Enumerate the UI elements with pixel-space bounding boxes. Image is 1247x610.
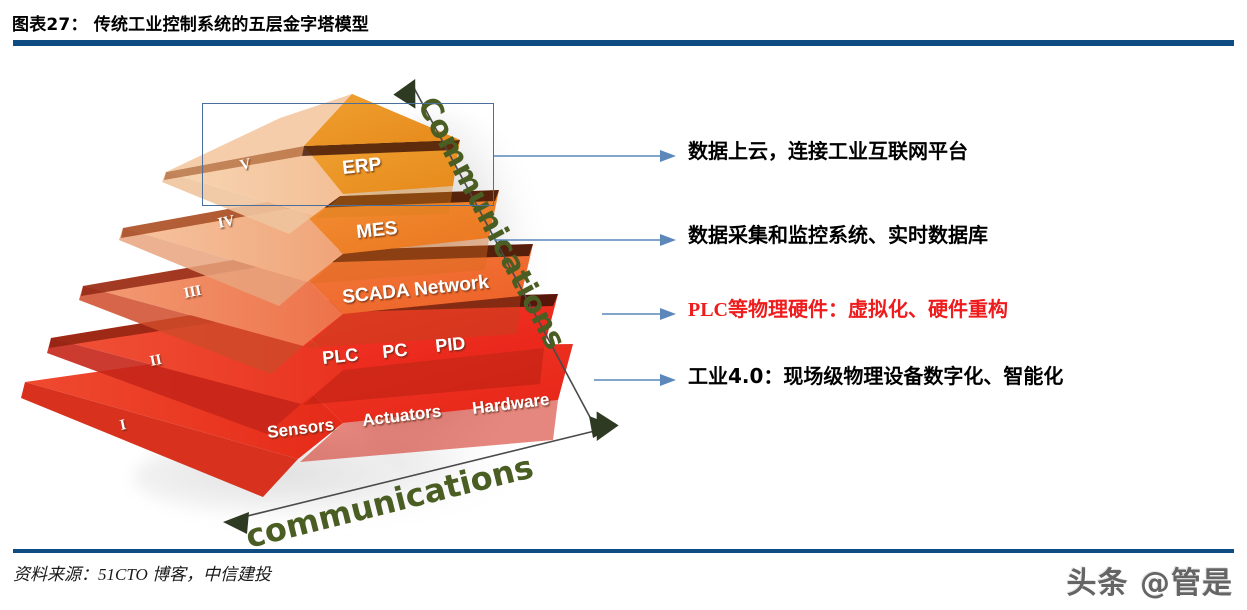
title-divider-top: [13, 40, 1234, 46]
connector-line-3: [602, 307, 680, 321]
level-label-mes: MES: [355, 218, 398, 243]
connector-line-2: [494, 233, 680, 247]
annotation-text-3: PLC等物理硬件：虚拟化、硬件重构: [688, 300, 1008, 320]
watermark: 头条 @管是: [1067, 558, 1233, 602]
footer-divider: [13, 549, 1234, 553]
annotation-text-4: 工业4.0：现场级物理设备数字化、智能化: [688, 366, 1063, 386]
level-label-pc: PC: [381, 339, 408, 362]
highlight-rect-erp-mes[interactable]: [202, 103, 494, 206]
annotation-text-1: 数据上云，连接工业互联网平台: [688, 141, 968, 161]
annotation-text-2: 数据采集和监控系统、实时数据库: [688, 225, 988, 245]
level-label-pid: PID: [434, 333, 466, 356]
connector-line-4: [594, 373, 680, 387]
figure-page: 图表27： 传统工业控制系统的五层金字塔模型: [0, 0, 1247, 610]
page-title: 图表27： 传统工业控制系统的五层金字塔模型: [12, 10, 369, 35]
source-note: 资料来源：51CTO 博客，中信建投: [13, 560, 271, 585]
connector-line-1: [494, 149, 680, 163]
level-numeral-4: IV: [217, 213, 237, 232]
level-label-plc: PLC: [321, 344, 359, 368]
